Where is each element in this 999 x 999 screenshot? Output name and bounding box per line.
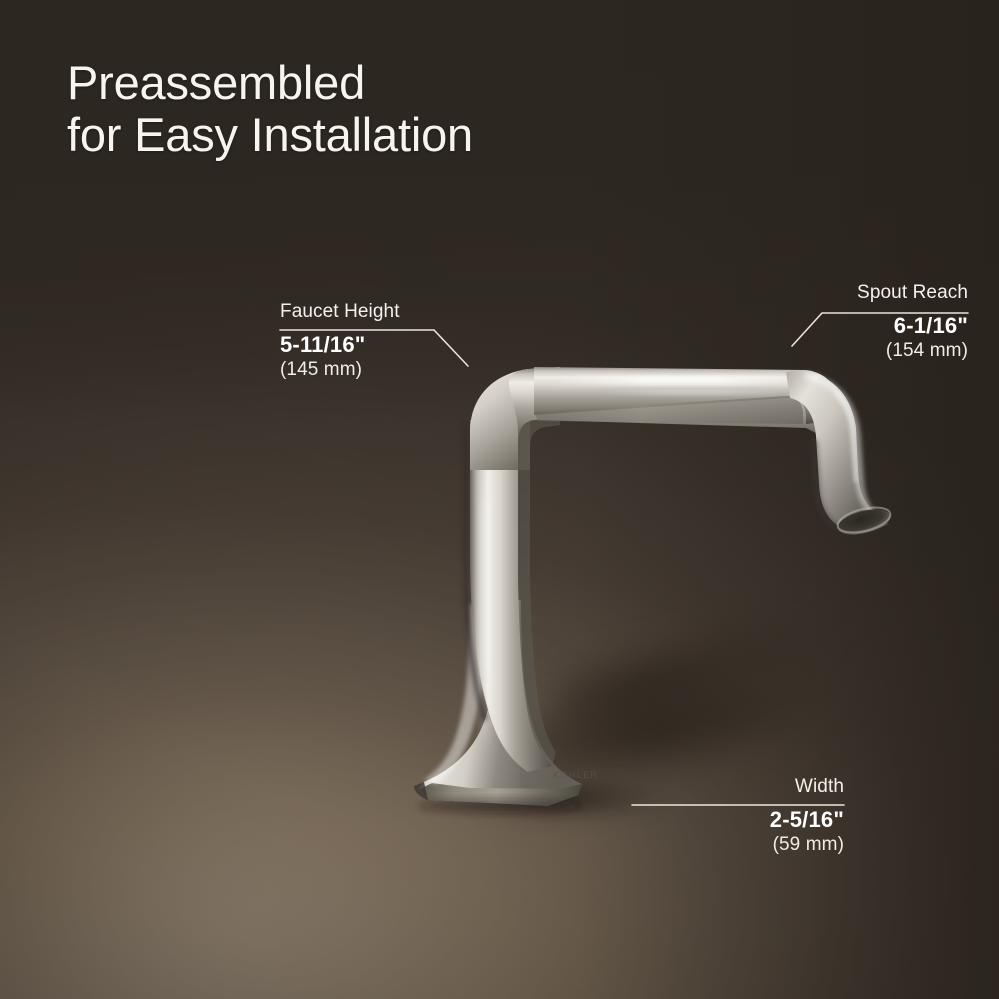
callout-title-spout-reach: Spout Reach [770,282,968,304]
product-image-canvas: KOHLER [0,0,999,999]
faucet-vertical-column [463,420,556,772]
callout-value-imperial-faucet-height: 5-11/16" [280,332,400,358]
callout-title-faucet-height: Faucet Height [280,301,400,323]
page-title-line-1: Preassembled [67,56,365,109]
callout-value-metric-width: (59 mm) [680,833,844,856]
callout-value-metric-faucet-height: (145 mm) [280,358,400,381]
callout-value-metric-spout-reach: (154 mm) [770,339,968,362]
dimension-callout-spout-reach: Spout Reach 6-1/16" (154 mm) [770,282,968,362]
dimension-callout-width: Width 2-5/16" (59 mm) [680,776,844,856]
page-title: Preassembled for Easy Installation [67,57,473,161]
page-title-line-2: for Easy Installation [67,109,473,161]
faucet-spout-outlet [786,370,893,539]
callout-value-imperial-width: 2-5/16" [680,807,844,833]
callout-value-imperial-spout-reach: 6-1/16" [770,313,968,339]
kohler-brand-engraving: KOHLER [553,770,598,780]
callout-title-width: Width [680,776,844,798]
dimension-callout-faucet-height: Faucet Height 5-11/16" (145 mm) [280,301,400,381]
